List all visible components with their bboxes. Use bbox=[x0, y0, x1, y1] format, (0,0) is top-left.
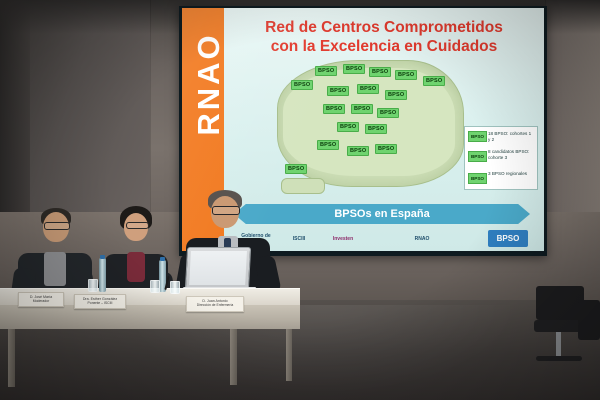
legend-chip: BPSO bbox=[468, 151, 487, 162]
legend-text: 18 BPSO: cohortes 1 y 2 bbox=[488, 131, 534, 142]
logo-item: RNAO bbox=[402, 231, 442, 246]
drinking-glass bbox=[170, 281, 180, 294]
bottle-cap bbox=[100, 255, 105, 259]
logo-item: Investen bbox=[320, 231, 366, 246]
table-leg bbox=[230, 329, 237, 385]
drinking-glass bbox=[150, 280, 160, 293]
legend-text: 3 BPSO regionales bbox=[488, 171, 534, 177]
map-tag: BPSO bbox=[369, 67, 391, 77]
slide-title-line2: con la Excelencia en Cuidados bbox=[234, 37, 534, 56]
slide-title: Red de Centros Comprometidos con la Exce… bbox=[234, 18, 534, 56]
legend-chip: BPSO bbox=[468, 131, 487, 142]
map-tag: BPSO bbox=[291, 80, 313, 90]
map-tag: BPSO bbox=[323, 104, 345, 114]
slide-title-line1: Red de Centros Comprometidos bbox=[234, 18, 534, 37]
legend-text: 8 candidatos BPSO: cohorte 3 bbox=[488, 149, 534, 160]
map-tag: BPSO bbox=[351, 104, 373, 114]
map-tag: BPSO bbox=[377, 108, 399, 118]
map-tag: BPSO bbox=[365, 124, 387, 134]
glasses-left bbox=[44, 222, 70, 230]
logo-badge: BPSO bbox=[488, 230, 528, 247]
wall-seam bbox=[150, 0, 151, 215]
name-card: Dra. Esther González Ponente – ISCIII bbox=[74, 294, 126, 309]
laptop-screen bbox=[189, 251, 247, 285]
legend-chip: BPSO bbox=[468, 173, 487, 184]
slide-banner: BPSOs en España bbox=[234, 204, 530, 224]
glasses-center bbox=[126, 222, 149, 229]
laptop bbox=[185, 247, 251, 291]
map-tag: BPSO bbox=[327, 86, 349, 96]
bottle-cap bbox=[160, 257, 165, 261]
name-card-line2: Moderador bbox=[19, 299, 63, 303]
spain-map: BPSO BPSO BPSO BPSO BPSO BPSO BPSO BPSO … bbox=[277, 60, 462, 200]
photo-scene: RNAO Red de Centros Comprometidos con la… bbox=[0, 0, 600, 400]
name-card: D. José María Moderador bbox=[18, 292, 64, 307]
logo-item: ISCIII bbox=[284, 231, 314, 246]
name-card-line2: Ponente – ISCIII bbox=[75, 301, 125, 305]
name-card-line2: Dirección de Enfermería bbox=[187, 303, 243, 307]
map-tag: BPSO bbox=[337, 122, 359, 132]
canary-islands bbox=[281, 178, 325, 194]
map-tag: BPSO bbox=[423, 76, 445, 86]
map-tag: BPSO bbox=[343, 64, 365, 74]
table-leg bbox=[286, 329, 292, 381]
map-tag: BPSO bbox=[285, 164, 307, 174]
map-tag: BPSO bbox=[385, 90, 407, 100]
glasses-right bbox=[212, 206, 240, 215]
slide-legend: BPSO 18 BPSO: cohortes 1 y 2 BPSO 8 cand… bbox=[464, 126, 538, 190]
table-front-panel bbox=[0, 305, 300, 329]
rnao-label: RNAO bbox=[191, 24, 227, 144]
table-leg bbox=[8, 329, 15, 387]
map-tag: BPSO bbox=[317, 140, 339, 150]
drinking-glass bbox=[88, 279, 98, 292]
name-card: D. Juan Antonio Dirección de Enfermería bbox=[186, 296, 244, 312]
water-bottle bbox=[99, 258, 106, 292]
map-tag: BPSO bbox=[357, 84, 379, 94]
map-tag: BPSO bbox=[315, 66, 337, 76]
slide-logo-strip: Gobierno de España ISCIII Investen RNAO … bbox=[232, 230, 532, 248]
map-tag: BPSO bbox=[347, 146, 369, 156]
map-tag: BPSO bbox=[395, 70, 417, 80]
map-tag: BPSO bbox=[375, 144, 397, 154]
